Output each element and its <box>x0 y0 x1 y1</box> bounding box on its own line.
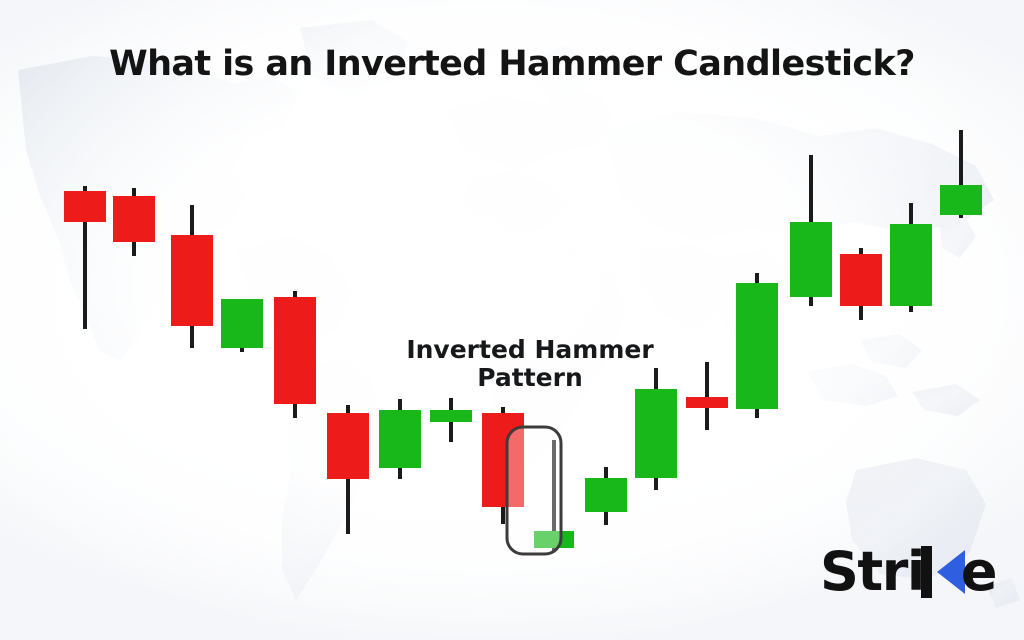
candle-body-bearish <box>113 196 155 242</box>
candle-6 <box>379 399 421 479</box>
candle-3 <box>221 299 263 352</box>
pattern-annotation: Inverted Hammer Pattern <box>330 336 730 392</box>
candle-body-bullish <box>790 222 832 297</box>
inverted-hammer-highlight-box <box>507 427 561 554</box>
candle-4 <box>274 291 316 418</box>
infographic-canvas: What is an Inverted Hammer Candlestick? … <box>0 0 1024 640</box>
candle-17 <box>940 130 982 218</box>
candle-body-bullish <box>635 389 677 478</box>
candle-9 <box>585 467 627 525</box>
candle-body-bullish <box>585 478 627 512</box>
brand-name-part2: e <box>961 545 996 599</box>
candle-16 <box>890 203 932 312</box>
candle-14 <box>790 155 832 306</box>
brand-name-part1: Stri <box>820 545 924 599</box>
candle-body-bearish <box>171 235 213 326</box>
candle-5 <box>327 405 369 534</box>
annotation-line-2: Pattern <box>330 364 730 392</box>
candle-body-bearish <box>840 254 882 306</box>
candle-1 <box>113 188 155 256</box>
candle-body-bearish <box>327 413 369 479</box>
candle-body-bullish <box>221 299 263 348</box>
candle-2 <box>171 205 213 348</box>
candle-15 <box>840 248 882 320</box>
strike-arrow-icon <box>921 544 965 600</box>
candle-body-bullish <box>430 410 472 422</box>
candle-13 <box>736 273 778 418</box>
candle-7 <box>430 398 472 442</box>
candle-body-bullish <box>379 410 421 468</box>
candle-body-bullish <box>940 185 982 215</box>
highlight-box-layer <box>507 427 561 554</box>
brand-logo[interactable]: Stri e <box>820 540 996 604</box>
candle-body-bullish <box>736 283 778 409</box>
annotation-line-1: Inverted Hammer <box>330 336 730 364</box>
candle-body-bearish <box>274 297 316 404</box>
candle-body-bearish <box>64 191 106 222</box>
candle-body-bullish <box>890 224 932 306</box>
candle-0 <box>64 186 106 329</box>
candle-body-bearish <box>686 397 728 408</box>
